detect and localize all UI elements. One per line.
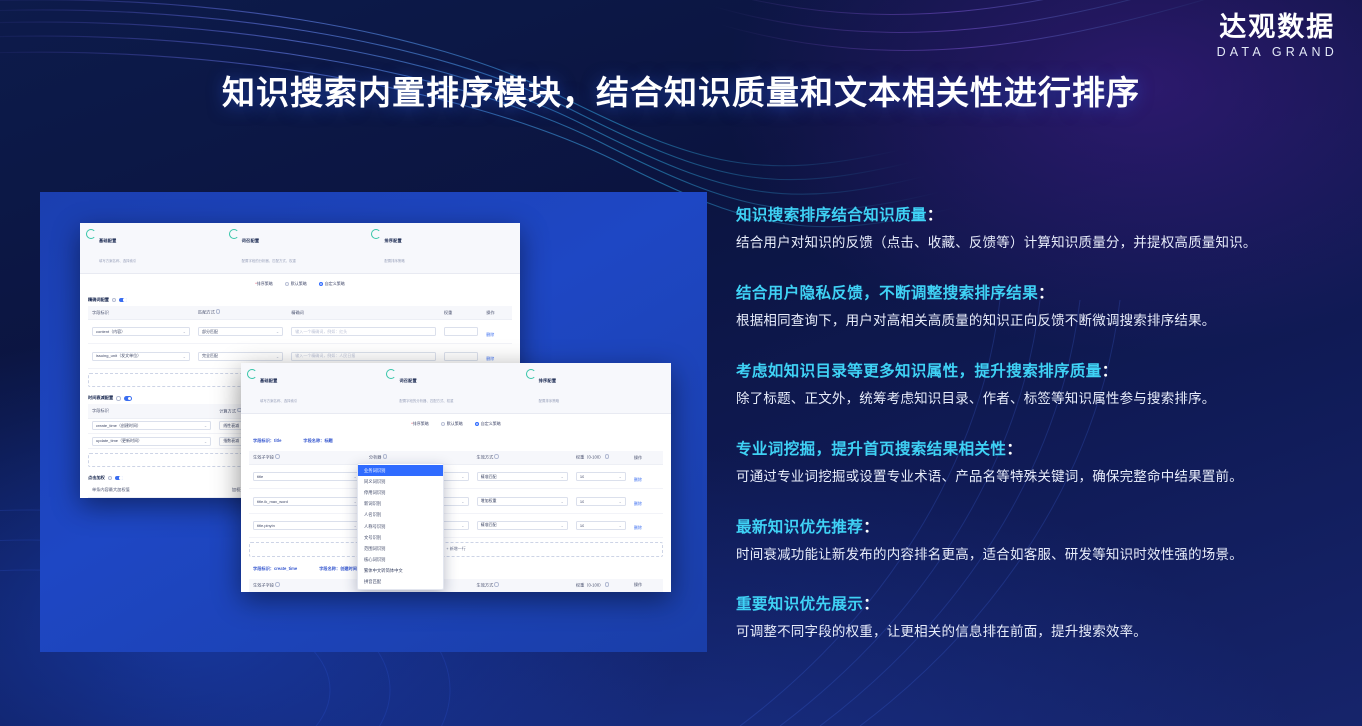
feature-body: 可通过专业词挖掘或设置专业术语、产品名等特殊关键词，确保完整命中结果置前。 <box>736 468 1346 487</box>
chevron-down-icon: ⌄ <box>561 474 564 479</box>
cell-field: content（内容）⌄ <box>88 320 194 344</box>
help-icon[interactable] <box>275 582 280 587</box>
step-subtitle: 配置排序策略 <box>539 399 559 403</box>
col-mode: 生效方式 <box>473 451 572 465</box>
stepper-front: 基础配置 填写方案名称、选择索引 词召配置 配置字段的分析器、匹配方式、权重 排… <box>241 363 671 414</box>
table-row: title⌄ 业务词识别⌄ 精准匹配⌄ 10⌄ 删除 <box>249 465 663 489</box>
delete-button[interactable]: 删除 <box>486 356 494 361</box>
dropdown-option[interactable]: 停用词识别 <box>358 487 443 498</box>
strategy-label: 排序策略 <box>413 421 429 426</box>
feature-block: 最新知识优先推荐： 时间衰减功能让新发布的内容排名更高，适合如客服、研发等知识时… <box>736 515 1346 565</box>
help-icon[interactable] <box>275 454 280 459</box>
step-circle-icon <box>229 229 239 239</box>
dropdown-option[interactable]: 拼音匹配 <box>358 577 443 588</box>
subfield-select[interactable]: title.pinyin⌄ <box>253 521 361 530</box>
radio-label: 自定义策略 <box>325 281 345 287</box>
delete-button[interactable]: 删除 <box>634 501 642 506</box>
cell-action: 删除 <box>630 465 663 489</box>
cell-action: 删除 <box>630 513 663 537</box>
weight-input[interactable] <box>444 327 478 336</box>
chevron-down-icon: ⌄ <box>618 523 621 528</box>
mode-select[interactable]: 精准匹配⌄ <box>477 472 568 481</box>
match-select[interactable]: 完全匹配⌄ <box>198 352 283 361</box>
radio-custom[interactable]: 自定义策略 <box>475 421 501 427</box>
step-item[interactable]: 排序配置 配置排序策略 <box>526 368 665 408</box>
field-select[interactable]: issuing_unit（发文单位）⌄ <box>92 352 190 361</box>
chevron-down-icon: ⌄ <box>183 329 186 334</box>
dropdown-option[interactable]: 新词识别 <box>358 499 443 510</box>
cell-mode: 精准匹配⌄ <box>473 513 572 537</box>
step-circle-icon <box>247 369 257 379</box>
cell-action: 删除 <box>630 489 663 513</box>
analyzer-section-title: 生效子字段 分析器 生效方式 权重（0-100） 操作 title⌄ 业务词识别… <box>241 447 671 557</box>
analyzer-section-createtime: 生效子字段 生效方式 权重（0-100） 操作 当前字段无需分析器 <box>241 575 671 592</box>
cell-max-weight: 1000 <box>88 497 228 498</box>
step-title: 词召配置 <box>399 378 417 383</box>
step-circle-icon <box>86 229 96 239</box>
cell-word: 输入一个精确词，例如：红头 <box>287 320 440 344</box>
toggle-switch[interactable] <box>115 476 123 481</box>
radio-custom[interactable]: 自定义策略 <box>319 281 345 287</box>
field-name: 字段名称：标题 <box>303 438 332 444</box>
dropdown-option[interactable]: 人称号识别 <box>358 521 443 532</box>
table-row: title.ik_max_word⌄ 同义词识别⌄ 增加权重⌄ 10⌄ 删除 <box>249 489 663 513</box>
chevron-down-icon: ⌄ <box>461 523 464 528</box>
help-icon[interactable] <box>605 454 610 459</box>
feature-heading: 最新知识优先推荐： <box>736 515 1346 537</box>
delete-button[interactable]: 删除 <box>486 332 494 337</box>
delete-button[interactable]: 删除 <box>634 525 642 530</box>
step-circle-icon <box>526 369 536 379</box>
feature-block: 知识搜索排序结合知识质量： 结合用户对知识的反馈（点击、收藏、反馈等）计算知识质… <box>736 203 1346 253</box>
help-icon[interactable] <box>216 309 221 314</box>
col-field: 字段标识 <box>88 306 194 320</box>
strategy-radio-group[interactable]: *排序策略 默认策略 自定义策略 <box>241 414 671 433</box>
step-title: 基础配置 <box>260 378 278 383</box>
radio-default[interactable]: 默认策略 <box>441 421 463 427</box>
chevron-down-icon: ⌄ <box>204 439 207 444</box>
logo-text-en: DATA GRAND <box>1217 45 1338 59</box>
radio-icon <box>319 282 323 286</box>
dropdown-option[interactable]: 繁体中文转简体中文 <box>358 566 443 577</box>
feature-list: 知识搜索排序结合知识质量： 结合用户对知识的反馈（点击、收藏、反馈等）计算知识质… <box>736 203 1346 642</box>
feature-body: 时间衰减功能让新发布的内容排名更高，适合如客服、研发等知识时效性强的场景。 <box>736 546 1346 565</box>
step-circle-icon <box>386 369 396 379</box>
step-subtitle: 配置字段的分析器、匹配方式、权重 <box>242 259 296 263</box>
step-subtitle: 填写方案名称、选择索引 <box>99 259 136 263</box>
cell-field: update_time（更新时间）⌄ <box>88 433 215 448</box>
cell-field: create_time（创建时间）⌄ <box>88 418 215 433</box>
slide-title: 知识搜索内置排序模块，结合知识质量和文本相关性进行排序 <box>0 66 1362 114</box>
col-subfield: 生效子字段 <box>249 579 365 592</box>
col-weight: 权重 <box>440 306 482 320</box>
step-title: 排序配置 <box>384 238 402 243</box>
col-field: 字段标识 <box>88 404 215 418</box>
dropdown-option[interactable]: 文号识别 <box>358 532 443 543</box>
table-row: content（内容）⌄ 部分匹配⌄ 输入一个精确词，例如：红头 删除 <box>88 320 512 344</box>
feature-block: 结合用户隐私反馈，不断调整搜索排序结果： 根据相同查询下，用户对高相关高质量的知… <box>736 281 1346 331</box>
chevron-down-icon: ⌄ <box>561 499 564 504</box>
analyzer-table: 生效子字段 分析器 生效方式 权重（0-100） 操作 title⌄ 业务词识别… <box>249 451 663 538</box>
col-max-weight: 单条内容最大加权值 <box>88 484 228 497</box>
step-title: 基础配置 <box>99 238 117 243</box>
col-action: 操作 <box>482 306 512 320</box>
weight-select[interactable]: 10⌄ <box>576 472 626 481</box>
feature-heading: 重要知识优先展示： <box>736 592 1346 614</box>
feature-heading: 专业词挖掘，提升首页搜索结果相关性： <box>736 437 1346 459</box>
mode-select[interactable]: 增加权重⌄ <box>477 497 568 506</box>
help-icon[interactable] <box>112 298 117 303</box>
dropdown-option[interactable]: 人名识别 <box>358 510 443 521</box>
help-icon[interactable] <box>116 396 121 401</box>
feature-body: 结合用户对知识的反馈（点击、收藏、反馈等）计算知识质量分，并提权高质量知识。 <box>736 234 1346 253</box>
cell-weight: 10⌄ <box>572 465 630 489</box>
field-name: 字段名称：创建时间 <box>319 566 357 572</box>
field-tags: 字段标识：title 字段名称：标题 <box>241 433 671 447</box>
stepper-back: 基础配置 填写方案名称、选择索引 词召配置 配置字段的分析器、匹配方式、权重 排… <box>80 223 520 274</box>
step-subtitle: 填写方案名称、选择索引 <box>260 399 297 403</box>
step-title: 排序配置 <box>539 378 557 383</box>
col-mode: 生效方式 <box>473 579 572 592</box>
section-header: 精确词配置 <box>88 297 512 303</box>
help-icon[interactable] <box>494 454 499 459</box>
help-icon[interactable] <box>605 582 610 587</box>
mode-select[interactable]: 精准匹配⌄ <box>477 521 568 530</box>
radio-icon <box>285 282 289 286</box>
field-id: 字段标识：title <box>253 438 281 444</box>
cell-weight <box>440 320 482 344</box>
chevron-down-icon: ⌄ <box>618 474 621 479</box>
cell-subfield: title.ik_max_word⌄ <box>249 489 365 513</box>
toggle-switch[interactable] <box>119 298 127 303</box>
radio-label: 默认策略 <box>447 421 463 427</box>
radio-label: 自定义策略 <box>481 421 501 427</box>
radio-default[interactable]: 默认策略 <box>285 281 307 287</box>
field-select[interactable]: content（内容）⌄ <box>92 327 190 336</box>
step-item[interactable]: 基础配置 填写方案名称、选择索引 <box>247 368 386 408</box>
feature-heading: 知识搜索排序结合知识质量： <box>736 203 1346 225</box>
cell-mode: 增加权重⌄ <box>473 489 572 513</box>
dropdown-option[interactable]: 业务词识别 <box>358 465 443 476</box>
chevron-down-icon: ⌄ <box>276 354 279 359</box>
col-subfield: 生效子字段 <box>249 451 365 465</box>
step-item[interactable]: 词召配置 配置字段的分析器、匹配方式、权重 <box>386 368 525 408</box>
field-select[interactable]: create_time（创建时间）⌄ <box>92 421 211 430</box>
exact-word-table: 字段标识 匹配方式 精确词 权重 操作 content（内容）⌄ 部分匹配⌄ 输… <box>88 306 512 369</box>
field-id: 字段标识：create_time <box>253 566 297 572</box>
chevron-down-icon: ⌄ <box>461 474 464 479</box>
feature-heading: 考虑如知识目录等更多知识属性，提升搜索排序质量： <box>736 359 1346 381</box>
dropdown-option[interactable]: 范围词识别 <box>358 543 443 554</box>
table-header-row: 生效子字段 分析器 生效方式 权重（0-100） 操作 <box>249 451 663 465</box>
step-item[interactable]: 词召配置 配置字段的分析器、匹配方式、权重 <box>229 228 372 268</box>
weight-input[interactable] <box>444 352 478 361</box>
weight-select[interactable]: 10⌄ <box>576 521 626 530</box>
help-icon[interactable] <box>494 582 499 587</box>
chevron-down-icon: ⌄ <box>183 354 186 359</box>
step-item[interactable]: 排序配置 配置排序策略 <box>371 228 514 268</box>
weight-select[interactable]: 10⌄ <box>576 497 626 506</box>
strategy-label: 排序策略 <box>257 281 273 286</box>
cell-mode: 精准匹配⌄ <box>473 465 572 489</box>
brand-logo: 达观数据 DATA GRAND <box>1217 12 1338 59</box>
logo-text-cn: 达观数据 <box>1217 12 1338 43</box>
feature-body: 可调整不同字段的权重，让更相关的信息排在前面，提升搜索效率。 <box>736 623 1346 642</box>
section-title: 时间衰减配置 <box>88 395 113 401</box>
cell-action: 删除 <box>482 320 512 344</box>
analyzer-dropdown[interactable]: 业务词识别 同义词识别 停用词识别 新词识别 人名识别 人称号识别 文号识别 范… <box>357 463 444 590</box>
dropdown-option[interactable]: 核心词识别 <box>358 555 443 566</box>
radio-label: 默认策略 <box>291 281 307 287</box>
chevron-down-icon: ⌄ <box>276 329 279 334</box>
match-select[interactable]: 部分匹配⌄ <box>198 327 283 336</box>
col-word: 精确词 <box>287 306 440 320</box>
col-action: 操作 <box>630 579 663 592</box>
subfield-select[interactable]: title.ik_max_word⌄ <box>253 497 361 506</box>
col-weight: 权重（0-100） <box>572 579 630 592</box>
analyzer-table: 生效子字段 生效方式 权重（0-100） 操作 <box>249 579 663 592</box>
chevron-down-icon: ⌄ <box>561 523 564 528</box>
word-input[interactable]: 输入一个精确词，例如：红头 <box>291 327 436 336</box>
step-circle-icon <box>371 229 381 239</box>
step-item[interactable]: 基础配置 填写方案名称、选择索引 <box>86 228 229 268</box>
step-subtitle: 配置字段的分析器、匹配方式、权重 <box>399 399 453 403</box>
strategy-radio-group[interactable]: *排序策略 默认策略 自定义策略 <box>80 274 520 293</box>
feature-block: 专业词挖掘，提升首页搜索结果相关性： 可通过专业词挖掘或设置专业术语、产品名等特… <box>736 437 1346 487</box>
field-select[interactable]: update_time（更新时间）⌄ <box>92 437 211 446</box>
delete-button[interactable]: 删除 <box>634 477 642 482</box>
cell-weight: 10⌄ <box>572 489 630 513</box>
table-header-row: 字段标识 匹配方式 精确词 权重 操作 <box>88 306 512 320</box>
cell-weight: 10⌄ <box>572 513 630 537</box>
cell-match: 部分匹配⌄ <box>194 320 287 344</box>
col-weight: 权重（0-100） <box>572 451 630 465</box>
section-title: 精确词配置 <box>88 297 109 303</box>
feature-block: 考虑如知识目录等更多知识属性，提升搜索排序质量： 除了标题、正文外，统筹考虑知识… <box>736 359 1346 409</box>
feature-block: 重要知识优先展示： 可调整不同字段的权重，让更相关的信息排在前面，提升搜索效率。 <box>736 592 1346 642</box>
feature-body: 根据相同查询下，用户对高相关高质量的知识正向反馈不断微调搜索排序结果。 <box>736 312 1346 331</box>
chevron-down-icon: ⌄ <box>461 499 464 504</box>
table-header-row: 生效子字段 生效方式 权重（0-100） 操作 <box>249 579 663 592</box>
feature-body: 除了标题、正文外，统筹考虑知识目录、作者、标签等知识属性参与搜索排序。 <box>736 390 1346 409</box>
subfield-select[interactable]: title⌄ <box>253 472 361 481</box>
help-icon[interactable] <box>383 454 388 459</box>
col-match: 匹配方式 <box>194 306 287 320</box>
step-title: 词召配置 <box>242 238 260 243</box>
radio-icon <box>441 422 445 426</box>
chevron-down-icon: ⌄ <box>204 423 207 428</box>
feature-heading: 结合用户隐私反馈，不断调整搜索排序结果： <box>736 281 1346 303</box>
section-title: 点击加权 <box>88 475 105 481</box>
add-row-button[interactable]: + 新增一行 <box>249 542 663 557</box>
radio-icon <box>475 422 479 426</box>
col-action: 操作 <box>630 451 663 465</box>
table-row: title.pinyin⌄ 业务词识别⌄ 精准匹配⌄ 10⌄ 删除 <box>249 513 663 537</box>
dropdown-option[interactable]: 同义词识别 <box>358 476 443 487</box>
cell-subfield: title.pinyin⌄ <box>249 513 365 537</box>
screenshot-recall-config[interactable]: 基础配置 填写方案名称、选择索引 词召配置 配置字段的分析器、匹配方式、权重 排… <box>241 363 671 592</box>
toggle-switch[interactable] <box>124 396 132 401</box>
help-icon[interactable] <box>108 476 113 481</box>
cell-field: issuing_unit（发文单位）⌄ <box>88 344 194 368</box>
cell-subfield: title⌄ <box>249 465 365 489</box>
field-tags: 字段标识：create_time 字段名称：创建时间 <box>241 561 671 575</box>
screenshot-panel: 基础配置 填写方案名称、选择索引 词召配置 配置字段的分析器、匹配方式、权重 排… <box>40 192 707 652</box>
word-input[interactable]: 输入一个精确词，例如：人民日报 <box>291 352 436 361</box>
step-subtitle: 配置排序策略 <box>384 259 404 263</box>
chevron-down-icon: ⌄ <box>618 499 621 504</box>
